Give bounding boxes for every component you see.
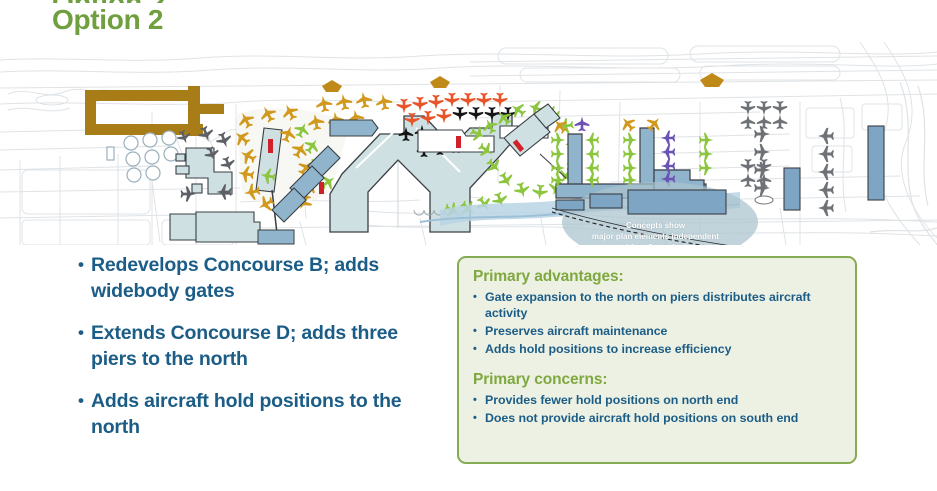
hold-position-marker-2: [319, 182, 324, 194]
small-oval-structure: [755, 196, 773, 204]
bullet-icon: •: [78, 252, 91, 278]
concern-item-label: Provides fewer hold positions on north e…: [485, 392, 841, 408]
page-title: Option 2: [52, 4, 163, 36]
title-overflow-text: Option 2: [52, 0, 937, 3]
map-callout-line-1: Concepts show: [563, 220, 748, 231]
concern-item: • Provides fewer hold positions on north…: [473, 392, 841, 408]
advantage-item: • Preserves aircraft maintenance: [473, 323, 841, 339]
advantage-item-label: Preserves aircraft maintenance: [485, 323, 841, 339]
bullet-icon: •: [473, 410, 485, 426]
advantages-concerns-box: Primary advantages: • Gate expansion to …: [457, 256, 857, 464]
bullet-icon: •: [78, 320, 91, 346]
hold-position-marker: [268, 139, 273, 153]
primary-advantages-heading: Primary advantages:: [473, 267, 841, 287]
title-overflow-sliver: Option 2: [0, 0, 937, 3]
advantage-item: • Adds hold positions to increase effici…: [473, 341, 841, 357]
bullet-icon: •: [473, 392, 485, 408]
map-callout-line-3: of 1 vs 2 terminals: [563, 242, 748, 245]
bullet-icon: •: [473, 323, 485, 339]
option-description-list: • Redevelops Concourse B; adds widebody …: [78, 252, 438, 456]
slide-canvas: Option 2 Option 2: [0, 0, 937, 491]
map-callout-line-2: major plan elements independent: [563, 231, 748, 242]
advantage-item-label: Gate expansion to the north on piers dis…: [485, 289, 841, 321]
bullet-icon: •: [78, 388, 91, 414]
concern-item: • Does not provide aircraft hold positio…: [473, 410, 841, 426]
bullet-icon: •: [473, 341, 485, 357]
list-item: • Adds aircraft hold positions to the no…: [78, 388, 438, 440]
airport-concept-map: Concepts show major plan elements indepe…: [0, 42, 937, 245]
small-structure: [107, 147, 114, 160]
advantage-item: • Gate expansion to the north on piers d…: [473, 289, 841, 321]
concern-item-label: Does not provide aircraft hold positions…: [485, 410, 841, 426]
list-item-label: Extends Concourse D; adds three piers to…: [91, 320, 438, 372]
list-item: • Redevelops Concourse B; adds widebody …: [78, 252, 438, 304]
bullet-icon: •: [473, 289, 485, 305]
list-item-label: Adds aircraft hold positions to the nort…: [91, 388, 438, 440]
list-item: • Extends Concourse D; adds three piers …: [78, 320, 438, 372]
primary-concerns-heading: Primary concerns:: [473, 370, 841, 390]
map-callout-note: Concepts show major plan elements indepe…: [563, 220, 748, 245]
airport-map-svg: [0, 42, 937, 245]
advantage-item-label: Adds hold positions to increase efficien…: [485, 341, 841, 357]
list-item-label: Redevelops Concourse B; adds widebody ga…: [91, 252, 438, 304]
hold-position-marker-3: [456, 136, 461, 148]
